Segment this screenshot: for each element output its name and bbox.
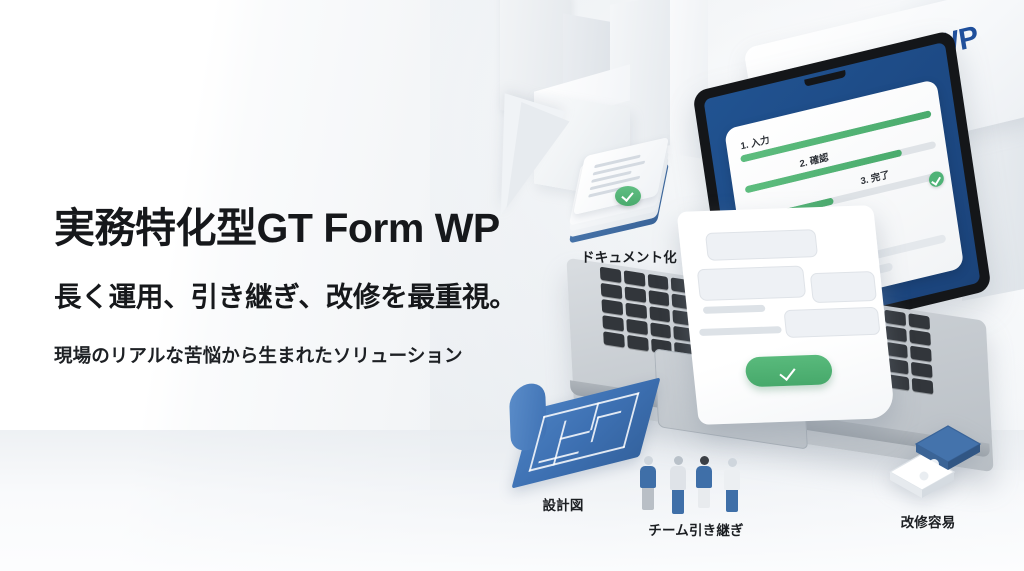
- puzzle-pieces-icon: [872, 424, 984, 510]
- form-text-line: [703, 305, 766, 314]
- paper-form-illustration: [677, 205, 896, 425]
- feature-label-blueprint: 設計図: [505, 488, 621, 514]
- form-submit-button-icon: [744, 354, 833, 387]
- feature-label-handover: チーム引き継ぎ: [620, 513, 772, 539]
- form-text-line: [699, 326, 782, 336]
- team-people-icon: [636, 438, 756, 514]
- page-subtitle: 長く運用、引き継ぎ、改修を最重視。: [54, 252, 594, 314]
- page-title: 実務特化型GT Form WP: [54, 206, 594, 252]
- hero-banner: 実務特化型GT Form WP 長く運用、引き継ぎ、改修を最重視。 現場のリアル…: [0, 0, 1024, 571]
- feature-label-maintainable: 改修容易: [872, 505, 984, 531]
- page-tagline: 現場のリアルな苦悩から生まれたソリューション: [54, 314, 594, 368]
- hero-copy: 実務特化型GT Form WP 長く運用、引き継ぎ、改修を最重視。 現場のリアル…: [54, 206, 594, 368]
- document-stack-icon: [575, 152, 683, 236]
- check-icon: [615, 186, 641, 206]
- form-field-box: [783, 307, 880, 338]
- feature-label-documentation: ドキュメント化: [563, 240, 695, 266]
- form-field-box: [810, 271, 877, 303]
- webcam-notch-icon: [804, 70, 846, 87]
- form-field-box: [697, 265, 807, 301]
- form-field-box: [705, 229, 818, 261]
